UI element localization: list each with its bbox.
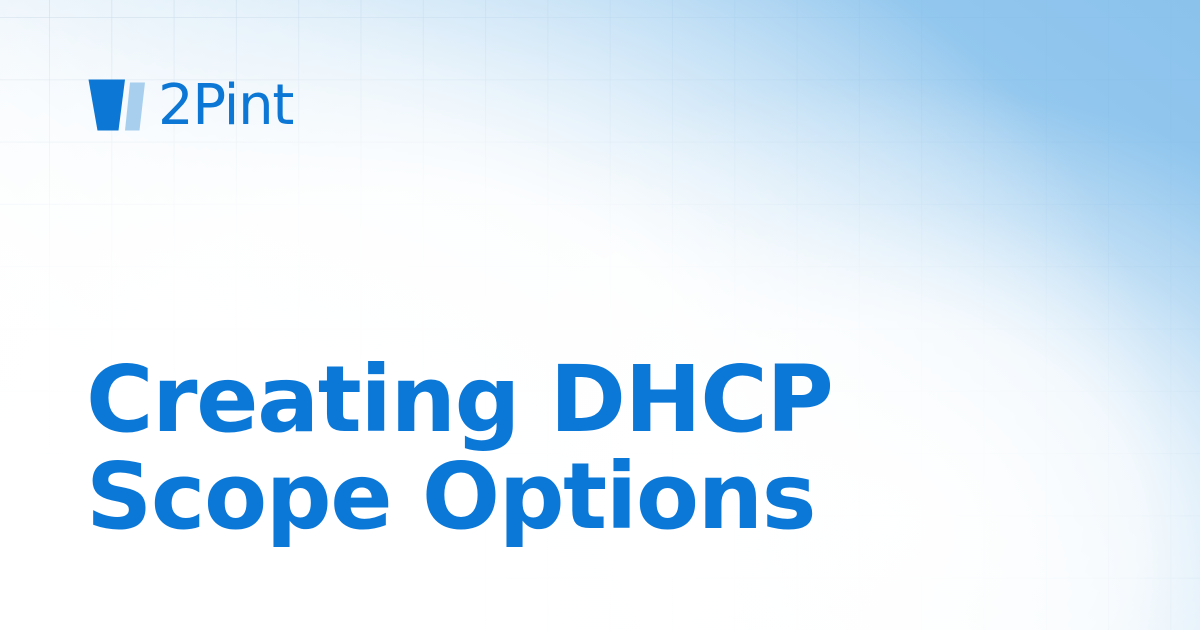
banner-content: 2Pint Creating DHCP Scope Options xyxy=(0,0,1200,630)
page-title: Creating DHCP Scope Options xyxy=(86,352,1096,545)
2pint-glass-mark-icon xyxy=(88,79,150,131)
share-card-banner: 2Pint Creating DHCP Scope Options xyxy=(0,0,1200,630)
brand-wordmark: 2Pint xyxy=(158,78,293,134)
brand-logo[interactable]: 2Pint xyxy=(88,76,293,134)
